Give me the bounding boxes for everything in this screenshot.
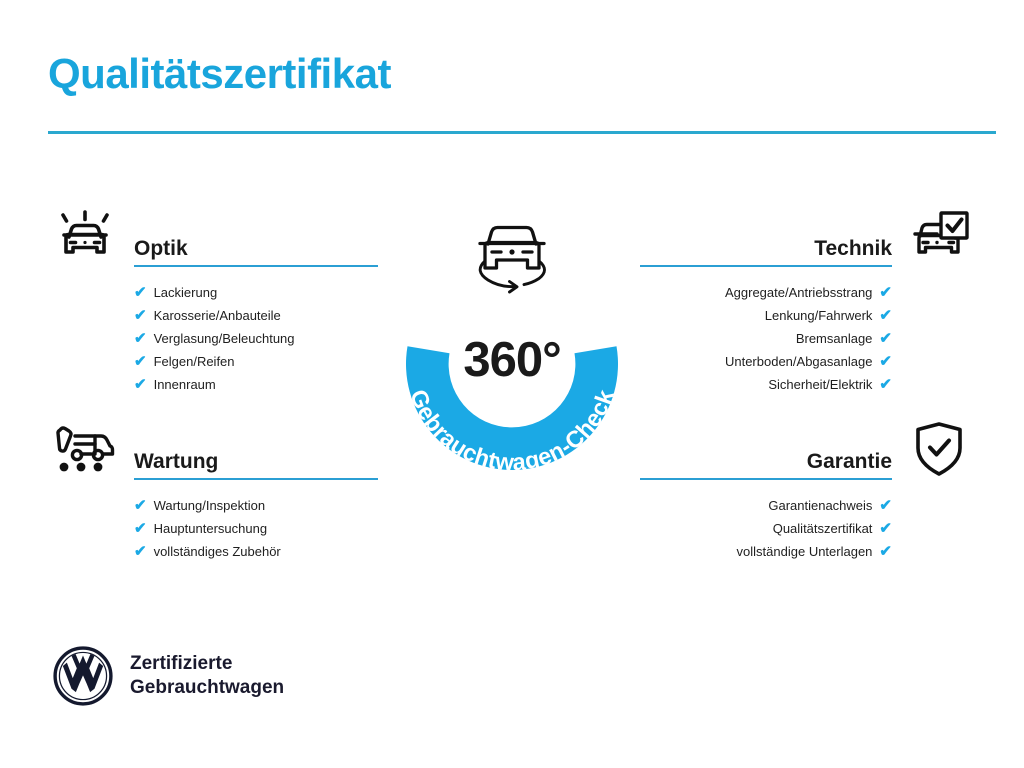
section-header: Technik bbox=[640, 205, 976, 267]
footer-line-2: Gebrauchtwagen bbox=[130, 676, 284, 700]
check-icon: ✔ bbox=[879, 331, 892, 346]
check-icon: ✔ bbox=[134, 498, 147, 513]
list-item-label: Lackierung bbox=[154, 286, 218, 299]
list-item-label: Garantienachweis bbox=[768, 499, 872, 512]
car-rotate-360-icon bbox=[480, 228, 545, 293]
volkswagen-logo bbox=[52, 645, 114, 707]
section-garantie: Garantie Garantienachweis ✔ Qualitätszer… bbox=[640, 418, 976, 563]
section-underline bbox=[640, 478, 892, 480]
list-item-label: Karosserie/Anbauteile bbox=[154, 309, 281, 322]
check-list-wartung: ✔ Wartung/Inspektion ✔ Hauptuntersuchung… bbox=[48, 494, 378, 563]
footer-line-1: Zertifizierte bbox=[130, 652, 284, 676]
car-shine-icon bbox=[48, 205, 122, 267]
check-list-garantie: Garantienachweis ✔ Qualitätszertifikat ✔… bbox=[640, 494, 976, 563]
list-item-label: Innenraum bbox=[154, 378, 216, 391]
gebrauchtwagen-check-badge: Gebrauchtwagen-Check 360° bbox=[378, 196, 646, 488]
check-icon: ✔ bbox=[134, 354, 147, 369]
car-checkbox-icon bbox=[902, 205, 976, 267]
section-underline bbox=[134, 478, 378, 480]
list-item-label: Hauptuntersuchung bbox=[154, 522, 267, 535]
check-list-technik: Aggregate/Antriebsstrang ✔ Lenkung/Fahrw… bbox=[640, 281, 976, 396]
list-item: Lenkung/Fahrwerk ✔ bbox=[640, 304, 892, 327]
footer-brand-text: Zertifizierte Gebrauchtwagen bbox=[130, 652, 284, 701]
check-icon: ✔ bbox=[134, 331, 147, 346]
list-item: ✔ vollständiges Zubehör bbox=[134, 540, 378, 563]
section-title-wrap: Technik bbox=[640, 237, 892, 267]
list-item: Qualitätszertifikat ✔ bbox=[640, 517, 892, 540]
list-item-label: Felgen/Reifen bbox=[154, 355, 235, 368]
check-icon: ✔ bbox=[879, 521, 892, 536]
list-item-label: Wartung/Inspektion bbox=[154, 499, 266, 512]
check-icon: ✔ bbox=[879, 544, 892, 559]
check-icon: ✔ bbox=[879, 377, 892, 392]
list-item-label: vollständige Unterlagen bbox=[737, 545, 873, 558]
list-item-label: Lenkung/Fahrwerk bbox=[765, 309, 873, 322]
section-title: Garantie bbox=[640, 450, 892, 478]
list-item: Sicherheit/Elektrik ✔ bbox=[640, 373, 892, 396]
section-title-wrap: Wartung bbox=[134, 450, 378, 480]
footer-brand: Zertifizierte Gebrauchtwagen bbox=[52, 645, 284, 707]
title-divider bbox=[48, 131, 996, 134]
section-title-wrap: Garantie bbox=[640, 450, 892, 480]
section-underline bbox=[134, 265, 378, 267]
shield-check-icon bbox=[902, 418, 976, 480]
list-item: ✔ Karosserie/Anbauteile bbox=[134, 304, 378, 327]
list-item-label: Qualitätszertifikat bbox=[773, 522, 873, 535]
list-item: ✔ Felgen/Reifen bbox=[134, 350, 378, 373]
check-icon: ✔ bbox=[879, 308, 892, 323]
list-item: ✔ Hauptuntersuchung bbox=[134, 517, 378, 540]
list-item-label: Unterboden/Abgasanlage bbox=[725, 355, 872, 368]
list-item-label: Aggregate/Antriebsstrang bbox=[725, 286, 872, 299]
check-icon: ✔ bbox=[879, 498, 892, 513]
check-list-optik: ✔ Lackierung ✔ Karosserie/Anbauteile ✔ V… bbox=[48, 281, 378, 396]
badge-degrees-label: 360° bbox=[378, 336, 646, 385]
section-underline bbox=[640, 265, 892, 267]
certificate-page: Qualitätszertifikat Optik bbox=[0, 0, 1024, 768]
list-item: ✔ Wartung/Inspektion bbox=[134, 494, 378, 517]
list-item: ✔ Innenraum bbox=[134, 373, 378, 396]
list-item: ✔ Verglasung/Beleuchtung bbox=[134, 327, 378, 350]
check-icon: ✔ bbox=[134, 308, 147, 323]
section-header: Garantie bbox=[640, 418, 976, 480]
section-wartung: Wartung ✔ Wartung/Inspektion ✔ Hauptunte… bbox=[48, 418, 378, 563]
list-item: Aggregate/Antriebsstrang ✔ bbox=[640, 281, 892, 304]
check-icon: ✔ bbox=[879, 354, 892, 369]
page-title: Qualitätszertifikat bbox=[48, 53, 391, 95]
section-title: Optik bbox=[134, 237, 378, 265]
list-item: Garantienachweis ✔ bbox=[640, 494, 892, 517]
section-header: Wartung bbox=[48, 418, 378, 480]
list-item: vollständige Unterlagen ✔ bbox=[640, 540, 892, 563]
car-wrench-service-icon bbox=[48, 418, 122, 480]
section-header: Optik bbox=[48, 205, 378, 267]
check-icon: ✔ bbox=[134, 521, 147, 536]
check-icon: ✔ bbox=[879, 285, 892, 300]
check-icon: ✔ bbox=[134, 285, 147, 300]
list-item: Bremsanlage ✔ bbox=[640, 327, 892, 350]
list-item: Unterboden/Abgasanlage ✔ bbox=[640, 350, 892, 373]
section-title: Technik bbox=[640, 237, 892, 265]
check-icon: ✔ bbox=[134, 377, 147, 392]
list-item: ✔ Lackierung bbox=[134, 281, 378, 304]
list-item-label: Sicherheit/Elektrik bbox=[768, 378, 872, 391]
list-item-label: Bremsanlage bbox=[796, 332, 873, 345]
list-item-label: vollständiges Zubehör bbox=[154, 545, 281, 558]
section-technik: Technik Aggregate/Antriebsstrang ✔ Lenku… bbox=[640, 205, 976, 396]
section-title-wrap: Optik bbox=[134, 237, 378, 267]
section-title: Wartung bbox=[134, 450, 378, 478]
section-optik: Optik ✔ Lackierung ✔ Karosserie/Anbautei… bbox=[48, 205, 378, 396]
list-item-label: Verglasung/Beleuchtung bbox=[154, 332, 295, 345]
check-icon: ✔ bbox=[134, 544, 147, 559]
